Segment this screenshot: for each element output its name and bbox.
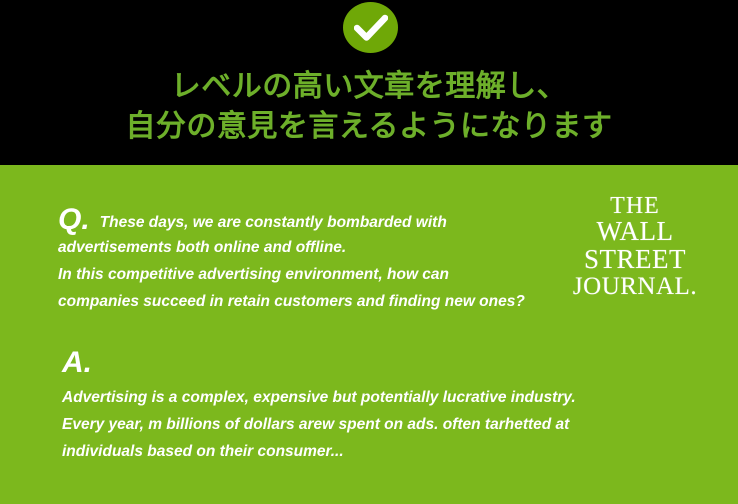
- promo-card: レベルの高い文章を理解し、 自分の意見を言えるようになります THE WALL …: [0, 0, 738, 504]
- wsj-logo-line-journal: JOURNAL.: [545, 274, 725, 300]
- question-first-row: Q.These days, we are constantly bombarde…: [58, 205, 538, 236]
- question-line-4: companies succeed in retain customers an…: [58, 288, 538, 315]
- question-block: Q.These days, we are constantly bombarde…: [58, 205, 538, 315]
- answer-block: A. Advertising is a complex, expensive b…: [62, 348, 607, 465]
- answer-line-2: Every year, m billions of dollars arew s…: [62, 411, 607, 438]
- check-circle-icon: [343, 2, 398, 53]
- qa-content-panel: THE WALL STREET JOURNAL. Q.These days, w…: [0, 165, 738, 504]
- question-line-1: These days, we are constantly bombarded …: [100, 214, 447, 231]
- answer-line-1: Advertising is a complex, expensive but …: [62, 384, 607, 411]
- question-body: advertisements both online and offline. …: [58, 234, 538, 315]
- wsj-logo-line-wall-street: WALL STREET: [545, 218, 725, 273]
- hero-heading-line-2: 自分の意見を言えるようになります: [0, 107, 738, 147]
- question-line-3: In this competitive advertising environm…: [58, 261, 538, 288]
- answer-marker: A.: [62, 348, 607, 378]
- hero-banner: レベルの高い文章を理解し、 自分の意見を言えるようになります: [0, 0, 738, 165]
- question-line-2: advertisements both online and offline.: [58, 234, 538, 261]
- hero-heading: レベルの高い文章を理解し、 自分の意見を言えるようになります: [0, 67, 738, 147]
- wsj-logo-line-the: THE: [545, 194, 725, 218]
- hero-heading-line-1: レベルの高い文章を理解し、: [0, 67, 738, 107]
- question-marker: Q.: [58, 205, 90, 235]
- wall-street-journal-logo: THE WALL STREET JOURNAL.: [545, 194, 725, 299]
- answer-body: Advertising is a complex, expensive but …: [62, 384, 607, 465]
- answer-line-3: individuals based on their consumer...: [62, 438, 607, 465]
